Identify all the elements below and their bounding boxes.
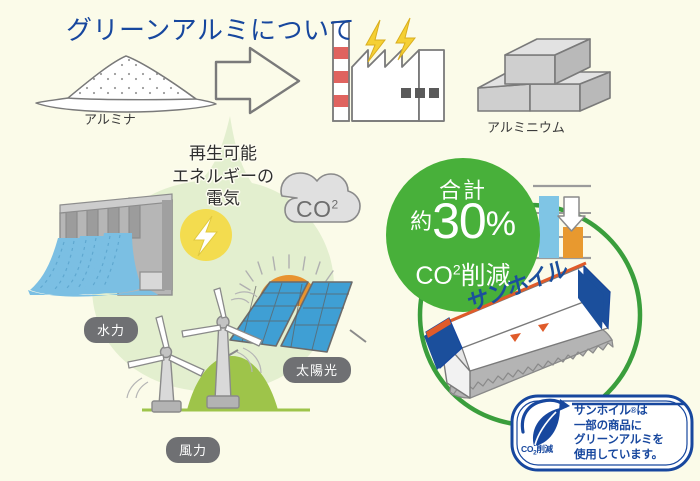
badge-co2-sup: 2 (453, 262, 461, 278)
hydro-dam-icon (28, 194, 172, 297)
sidebar-item-wind: 風力 (166, 437, 220, 463)
sidebar-item-solar: 太陽光 (283, 357, 351, 383)
renewable-line-3: 電気 (206, 189, 240, 208)
renewable-line-2: エネルギーの (172, 167, 274, 186)
bar-before (539, 196, 559, 258)
sidebar-item-hydro: 水力 (84, 317, 138, 343)
note-line-2: 一部の商品に (574, 420, 642, 432)
badge-co2-prefix: CO (415, 262, 453, 290)
alumina-pile-icon (36, 56, 216, 112)
badge-approx: 約 (410, 209, 432, 234)
aluminium-label: アルミニウム (487, 117, 565, 136)
badge-percent: % (486, 205, 516, 243)
renewable-headline: 再生可能 エネルギーの 電気 (163, 143, 283, 211)
badge-value: 30 (432, 193, 486, 249)
note-line-1: サンホイル (574, 405, 631, 417)
renewable-line-1: 再生可能 (189, 144, 257, 163)
recycle-leaf-label: CO2削減 (521, 443, 553, 457)
note-line-3: グリーンアルミを (574, 434, 664, 446)
alumina-label: アルミナ (84, 109, 136, 128)
logo-co2-tail: 削減 (536, 444, 552, 454)
logo-co2: CO (521, 444, 533, 454)
badge-value-row: 約30% (388, 196, 538, 246)
bar-after (563, 227, 583, 258)
lightning-bolt-circle-icon (180, 209, 232, 261)
infographic-canvas: グリーンアルミについて アルミナ アルミニウム 再生可能 エネルギーの 電気 C… (0, 0, 700, 481)
aluminium-ingots-icon (478, 39, 610, 111)
note-line-1-end: は (636, 405, 647, 417)
note-badge-text: サンホイル®は 一部の商品に グリーンアルミを 使用しています。 (574, 404, 694, 463)
page-title: グリーンアルミについて (66, 10, 355, 47)
co2-text: CO (296, 196, 332, 222)
note-line-4: 使用しています。 (574, 449, 663, 461)
right-arrow-icon (216, 48, 299, 113)
co2-superscript: 2 (332, 197, 339, 211)
co2-cloud-label: CO2 (296, 196, 339, 223)
